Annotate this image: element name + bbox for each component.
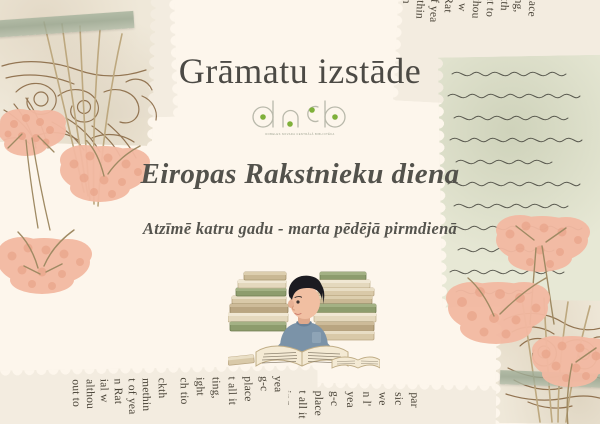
library-logo: DOBELES NOVADA CENTRĀLĀ BIBLIOTĒKA	[0, 98, 600, 136]
page-title: Grāmatu izstāde	[0, 50, 600, 92]
logo-tagline: DOBELES NOVADA CENTRĀLĀ BIBLIOTĒKA	[0, 133, 600, 136]
open-book-flat-right	[332, 357, 380, 368]
closed-book-flat-left	[228, 355, 254, 366]
event-headline: Eiropas Rakstnieku diena	[0, 158, 600, 191]
book-stack-left	[228, 272, 288, 331]
dncb-logo-mark	[252, 98, 348, 132]
poster-canvas: lkth methin t of yea n Rat ial w althou …	[0, 0, 600, 424]
event-subline: Atzīmē katru gadu - marta pēdējā pirmdie…	[0, 219, 600, 239]
book-stack-right	[314, 272, 376, 340]
poster-content: Grāmatu izstāde	[0, 0, 600, 424]
illustration-boy-reading	[228, 252, 380, 372]
logo-dots	[260, 107, 338, 127]
